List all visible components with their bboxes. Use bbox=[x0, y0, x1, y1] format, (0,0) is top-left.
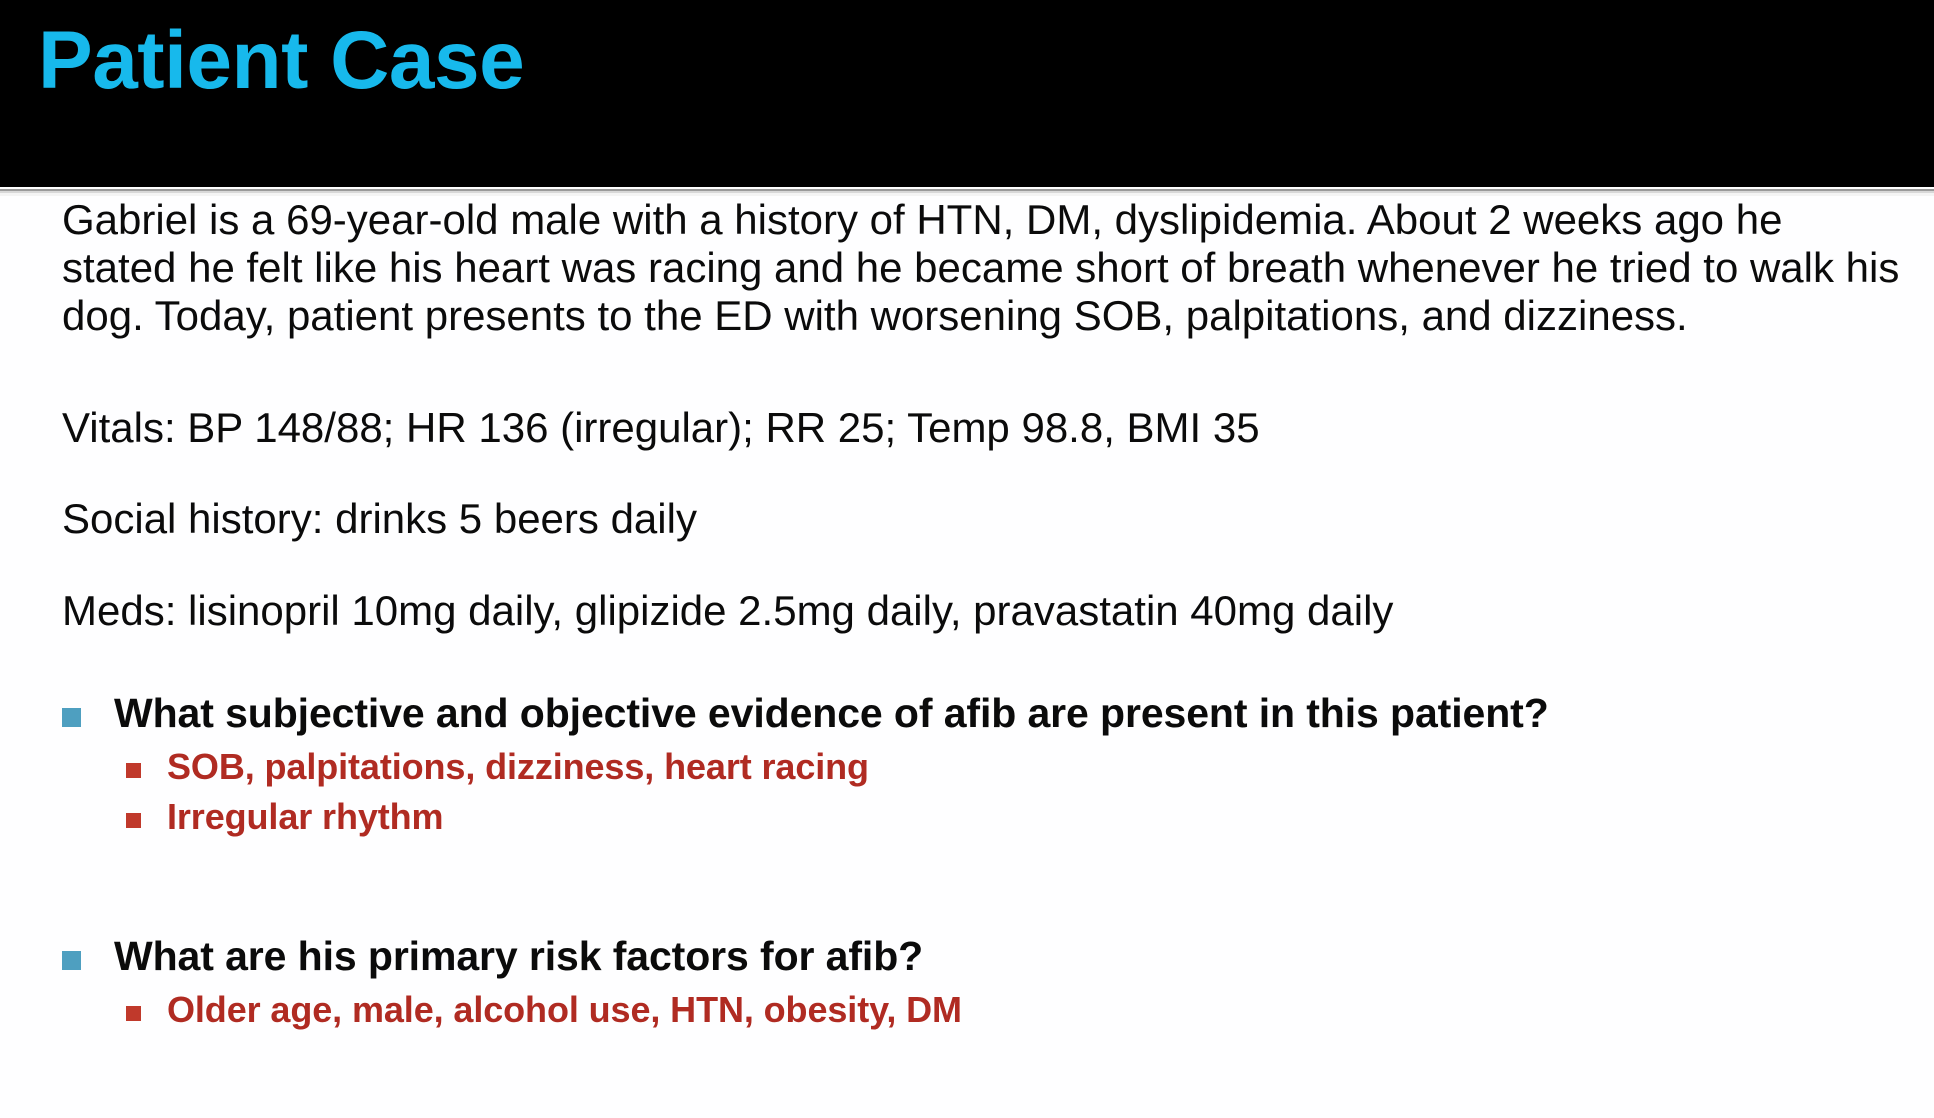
question-group-2: What are his primary risk factors for af… bbox=[0, 931, 1934, 1033]
slide-body: Gabriel is a 69-year-old male with a his… bbox=[0, 196, 1934, 1118]
square-sub-bullet-icon bbox=[126, 763, 141, 778]
question-group-1: What subjective and objective evidence o… bbox=[0, 688, 1934, 840]
question-text: What are his primary risk factors for af… bbox=[114, 931, 923, 981]
page-title: Patient Case bbox=[38, 14, 524, 108]
square-sub-bullet-icon bbox=[126, 1006, 141, 1021]
slide-title-band: Patient Case bbox=[0, 0, 1934, 187]
square-bullet-icon bbox=[62, 951, 81, 970]
square-bullet-icon bbox=[62, 708, 81, 727]
question-item: What are his primary risk factors for af… bbox=[0, 931, 1934, 981]
intro-paragraph: Gabriel is a 69-year-old male with a his… bbox=[62, 196, 1907, 340]
slide-patient-case: Patient Case Gabriel is a 69-year-old ma… bbox=[0, 0, 1934, 1118]
answer-item: SOB, palpitations, dizziness, heart raci… bbox=[0, 744, 1934, 790]
question-item: What subjective and objective evidence o… bbox=[0, 688, 1934, 738]
title-divider-rule bbox=[0, 187, 1934, 196]
square-sub-bullet-icon bbox=[126, 813, 141, 828]
answer-text: SOB, palpitations, dizziness, heart raci… bbox=[167, 744, 869, 790]
vitals-line: Vitals: BP 148/88; HR 136 (irregular); R… bbox=[62, 404, 1902, 452]
social-history-line: Social history: drinks 5 beers daily bbox=[62, 495, 1902, 543]
answer-text: Irregular rhythm bbox=[167, 794, 443, 840]
answer-text: Older age, male, alcohol use, HTN, obesi… bbox=[167, 987, 962, 1033]
medications-line: Meds: lisinopril 10mg daily, glipizide 2… bbox=[62, 587, 1902, 635]
answer-item: Older age, male, alcohol use, HTN, obesi… bbox=[0, 987, 1934, 1033]
answer-item: Irregular rhythm bbox=[0, 794, 1934, 840]
question-text: What subjective and objective evidence o… bbox=[114, 688, 1549, 738]
